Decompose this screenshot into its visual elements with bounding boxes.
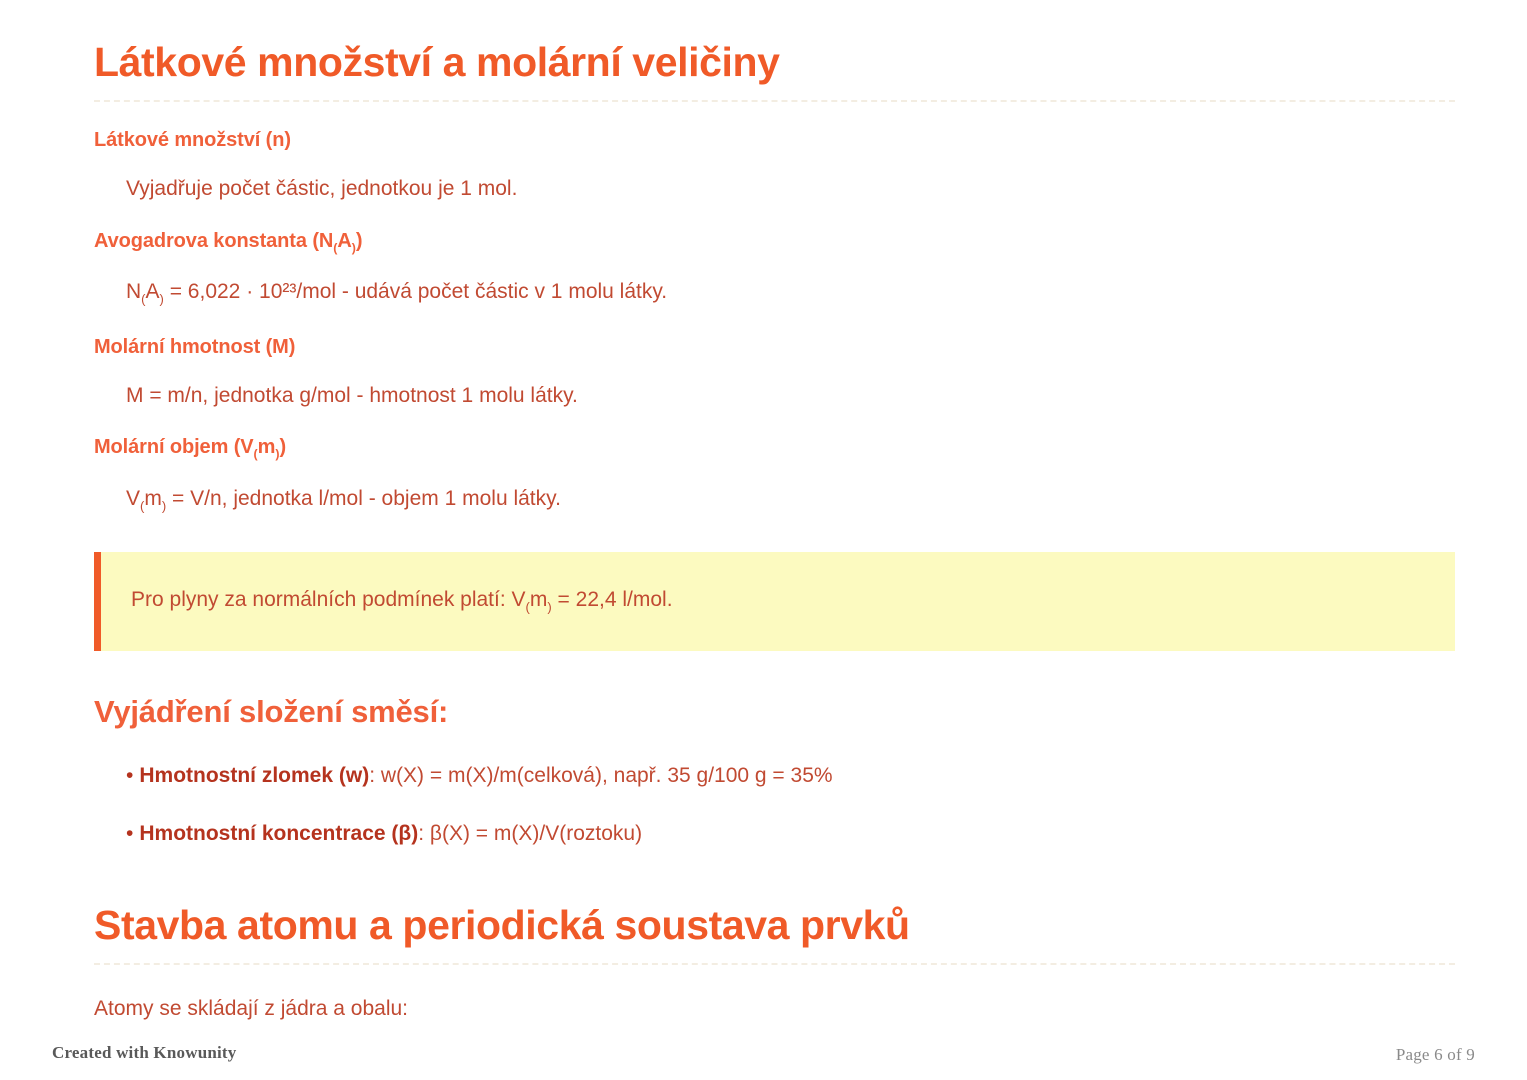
body-symbol: A <box>146 280 160 303</box>
heading-vyjadreni-slozeni-smesi: Vyjádření složení směsí: <box>94 693 1455 730</box>
body-avogadrova-konstanta: N(A) = 6,022 · 10²³/mol - udává počet čá… <box>94 278 1455 308</box>
list-item: •Hmotnostní koncentrace (β): β(X) = m(X)… <box>94 820 1455 847</box>
body-molarni-hmotnost: M = m/n, jednotka g/mol - hmotnost 1 mol… <box>94 382 1455 409</box>
subheading-suffix: ) <box>356 230 363 252</box>
subheading-symbol: m <box>258 436 276 458</box>
subheading-latkove-mnozstvi: Látkové množství (n) <box>94 128 1455 153</box>
subheading-text: Látkové množství (n) <box>94 129 291 151</box>
footer-attribution: Created with Knowunity <box>52 1043 237 1063</box>
body-atom-intro: Atomy se skládají z jádra a obalu: <box>94 995 1455 1022</box>
callout-suffix: = 22,4 l/mol. <box>552 588 673 611</box>
callout-symbol: m <box>530 588 548 611</box>
body-suffix: = 6,022 · 10²³/mol - udává počet částic … <box>164 280 667 303</box>
body-prefix: V <box>126 487 140 510</box>
subheading-text: Molární hmotnost (M) <box>94 336 295 358</box>
subheading-suffix: ) <box>280 436 287 458</box>
subheading-molarni-hmotnost: Molární hmotnost (M) <box>94 335 1455 360</box>
body-molarni-objem: V(m) = V/n, jednotka l/mol - objem 1 mol… <box>94 485 1455 515</box>
body-prefix: N <box>126 280 141 303</box>
callout-prefix: Pro plyny za normálních podmínek platí: … <box>131 588 526 611</box>
document-page: Látkové množství a molární veličiny Látk… <box>0 0 1527 1080</box>
subheading-symbol: A <box>337 230 351 252</box>
callout-box: Pro plyny za normálních podmínek platí: … <box>94 552 1455 651</box>
subheading-molarni-objem: Molární objem (V(m)) <box>94 435 1455 463</box>
list-item-lead: Hmotnostní zlomek (w) <box>139 764 369 787</box>
body-suffix: = V/n, jednotka l/mol - objem 1 molu lát… <box>166 487 561 510</box>
subheading-text: Avogadrova konstanta (N <box>94 230 333 252</box>
bullet-icon: • <box>126 764 133 787</box>
page-title-secondary: Stavba atomu a periodická soustava prvků <box>94 901 1455 965</box>
subheading-text: Molární objem (V <box>94 436 254 458</box>
list-item-rest: : β(X) = m(X)/V(roztoku) <box>418 822 642 845</box>
body-symbol: m <box>144 487 162 510</box>
list-item-rest: : w(X) = m(X)/m(celková), např. 35 g/100… <box>369 764 832 787</box>
body-latkove-mnozstvi: Vyjadřuje počet částic, jednotkou je 1 m… <box>94 175 1455 202</box>
list-item-lead: Hmotnostní koncentrace (β) <box>139 822 418 845</box>
document-content: Látkové množství a molární veličiny Látk… <box>94 38 1455 1023</box>
callout-text: Pro plyny za normálních podmínek platí: … <box>101 586 673 616</box>
list-item: •Hmotnostní zlomek (w): w(X) = m(X)/m(ce… <box>94 762 1455 789</box>
subheading-avogadrova-konstanta: Avogadrova konstanta (N(A)) <box>94 229 1455 257</box>
bullet-icon: • <box>126 822 133 845</box>
page-title: Látkové množství a molární veličiny <box>94 38 1455 102</box>
footer-page-number: Page 6 of 9 <box>1396 1045 1475 1065</box>
